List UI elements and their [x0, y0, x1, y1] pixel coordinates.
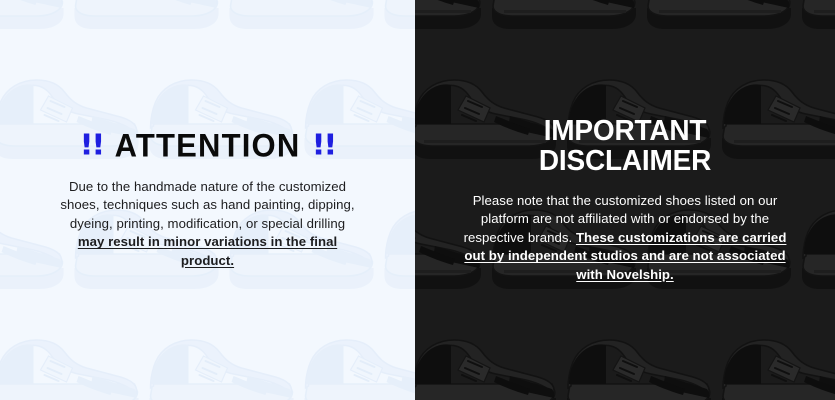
disclaimer-heading: IMPORTANT DISCLAIMER	[441, 114, 809, 174]
disclaimer-panel: IMPORTANT DISCLAIMER Please note that th…	[415, 0, 835, 400]
exclamation-left-icon: !!	[79, 131, 103, 159]
attention-body: Due to the handmade nature of the custom…	[55, 178, 360, 271]
disclaimer-heading-line-2: DISCLAIMER	[441, 145, 809, 175]
disclaimer-body: Please note that the customized shoes li…	[460, 192, 790, 285]
attention-title: ATTENTION	[115, 129, 301, 162]
attention-heading: !! ATTENTION !!	[26, 130, 389, 161]
attention-panel: !! ATTENTION !! Due to the handmade natu…	[0, 0, 415, 400]
disclaimer-banner: !! ATTENTION !! Due to the handmade natu…	[0, 0, 835, 400]
disclaimer-heading-line-1: IMPORTANT	[441, 114, 809, 144]
attention-content: !! ATTENTION !! Due to the handmade natu…	[0, 130, 415, 271]
disclaimer-content: IMPORTANT DISCLAIMER Please note that th…	[415, 116, 835, 285]
attention-body-emphasis: may result in minor variations in the fi…	[78, 234, 337, 268]
exclamation-right-icon: !!	[312, 131, 336, 159]
attention-body-normal: Due to the handmade nature of the custom…	[60, 179, 354, 231]
